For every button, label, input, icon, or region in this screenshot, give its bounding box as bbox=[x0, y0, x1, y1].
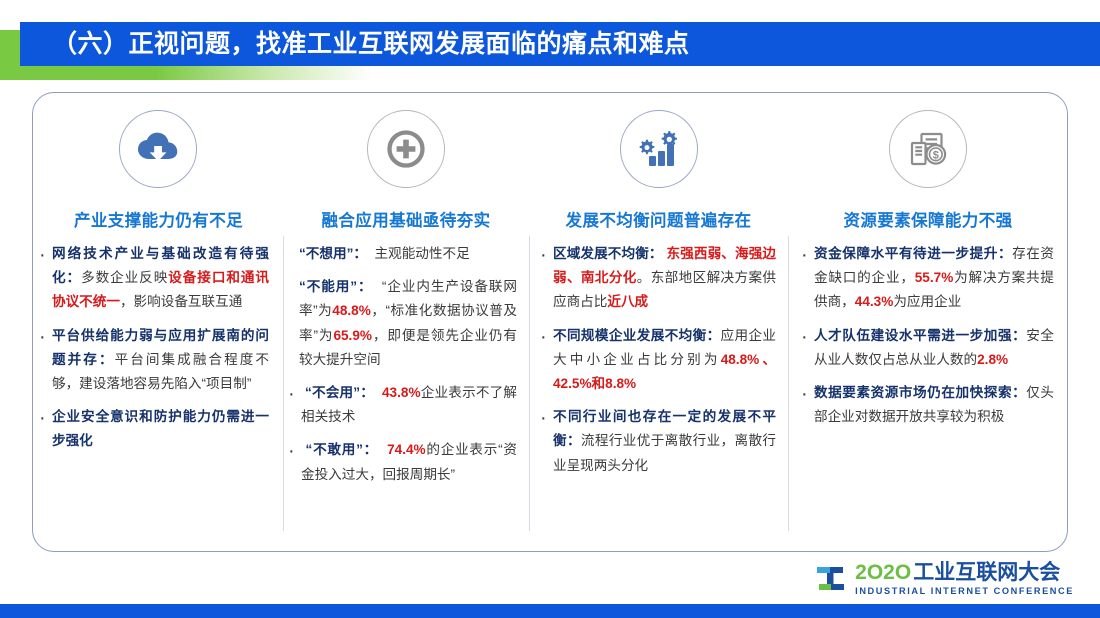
list-item: “不敢用”： 74.4%的企业表示“资金投入过大，回报周期长” bbox=[285, 438, 517, 486]
column-heading-3: 发展不均衡问题普遍存在 bbox=[529, 207, 788, 231]
list-item: 平台供给能力弱与应用扩展南的问题并存：平台间集成融合程度不够，建设落地容易先陷入… bbox=[36, 324, 269, 397]
logo-line-primary: 2O2O工业互联网大会 bbox=[855, 562, 1074, 583]
list-item: 网络技术产业与基础改造有待强化：多数企业反映设备接口和通讯协议不统一，影响设备互… bbox=[36, 242, 269, 315]
conference-logo: 2O2O工业互联网大会 INDUSTRIAL INTERNET CONFEREN… bbox=[816, 562, 1074, 596]
svg-text:$: $ bbox=[933, 149, 939, 161]
column-industry-support: 产业支撑能力仍有不足 网络技术产业与基础改造有待强化：多数企业反映设备接口和通讯… bbox=[32, 96, 283, 552]
list-item: 数据要素资源市场仍在加快探索：仅头部企业对数据开放共享较为积极 bbox=[798, 381, 1054, 429]
plus-circle-icon bbox=[367, 110, 445, 188]
icon-wrap-1 bbox=[32, 110, 283, 188]
column-heading-2: 融合应用基础亟待夯实 bbox=[283, 207, 529, 231]
footer-bar bbox=[0, 604, 1100, 618]
column-imbalanced-development: 发展不均衡问题普遍存在 区域发展不均衡： 东强西弱、海强边弱、南北分化。东部地区… bbox=[529, 96, 788, 552]
logo-chinese-name: 工业互联网大会 bbox=[913, 561, 1060, 584]
list-item: 区域发展不均衡： 东强西弱、海强边弱、南北分化。东部地区解决方案供应商占比近八成 bbox=[537, 242, 776, 315]
logo-english-name: INDUSTRIAL INTERNET CONFERENCE bbox=[855, 586, 1074, 596]
bullet-list-2: “不想用”： 主观能动性不足 “不能用”： “企业内生产设备联网率”为48.8%… bbox=[283, 242, 529, 487]
page-title: （六）正视问题，找准工业互联网发展面临的痛点和难点 bbox=[52, 22, 690, 66]
slide-header: （六）正视问题，找准工业互联网发展面临的痛点和难点 bbox=[0, 22, 1100, 70]
cloud-download-icon bbox=[119, 110, 197, 188]
bullet-list-3: 区域发展不均衡： 东强西弱、海强边弱、南北分化。东部地区解决方案供应商占比近八成… bbox=[529, 242, 788, 478]
list-item: 企业安全意识和防护能力仍需进一步强化 bbox=[36, 405, 269, 453]
list-item: “不想用”： 主观能动性不足 bbox=[285, 242, 517, 266]
logo-year: 2O2O bbox=[855, 561, 911, 584]
icon-wrap-4: $ bbox=[788, 110, 1068, 188]
column-heading-1: 产业支撑能力仍有不足 bbox=[32, 207, 283, 231]
icon-wrap-3 bbox=[529, 110, 788, 188]
list-item: “不会用”： 43.8%企业表示不了解相关技术 bbox=[285, 381, 517, 429]
list-item: “不能用”： “企业内生产设备联网率”为48.8%，“标准化数据协议普及率”为6… bbox=[285, 275, 517, 372]
column-resource-guarantee: $ 资源要素保障能力不强 资金保障水平有待进一步提升：存在资金缺口的企业，55.… bbox=[788, 96, 1068, 552]
bullet-list-4: 资金保障水平有待进一步提升：存在资金缺口的企业，55.7%为解决方案共提供商，4… bbox=[788, 242, 1068, 429]
bullet-list-1: 网络技术产业与基础改造有待强化：多数企业反映设备接口和通讯协议不统一，影响设备互… bbox=[32, 242, 283, 454]
bar-chart-gear-icon bbox=[620, 110, 698, 188]
column-heading-4: 资源要素保障能力不强 bbox=[788, 207, 1068, 231]
list-item: 不同行业间也存在一定的发展不平衡：流程行业优于离散行业，离散行业呈现两头分化 bbox=[537, 405, 776, 478]
document-money-icon: $ bbox=[889, 110, 967, 188]
list-item: 人才队伍建设水平需进一步加强：安全从业人数仅占总从业人数的2.8% bbox=[798, 324, 1054, 372]
columns-container: 产业支撑能力仍有不足 网络技术产业与基础改造有待强化：多数企业反映设备接口和通讯… bbox=[32, 96, 1068, 552]
column-integration-application: 融合应用基础亟待夯实 “不想用”： 主观能动性不足 “不能用”： “企业内生产设… bbox=[283, 96, 529, 552]
list-item: 资金保障水平有待进一步提升：存在资金缺口的企业，55.7%为解决方案共提供商，4… bbox=[798, 242, 1054, 315]
icon-wrap-2 bbox=[283, 110, 529, 188]
logo-text: 2O2O工业互联网大会 INDUSTRIAL INTERNET CONFEREN… bbox=[855, 562, 1074, 595]
list-item: 不同规模企业发展不均衡：应用企业大中小企业占比分别为48.8%、42.5%和8.… bbox=[537, 324, 776, 397]
logo-mark-icon bbox=[816, 565, 848, 593]
